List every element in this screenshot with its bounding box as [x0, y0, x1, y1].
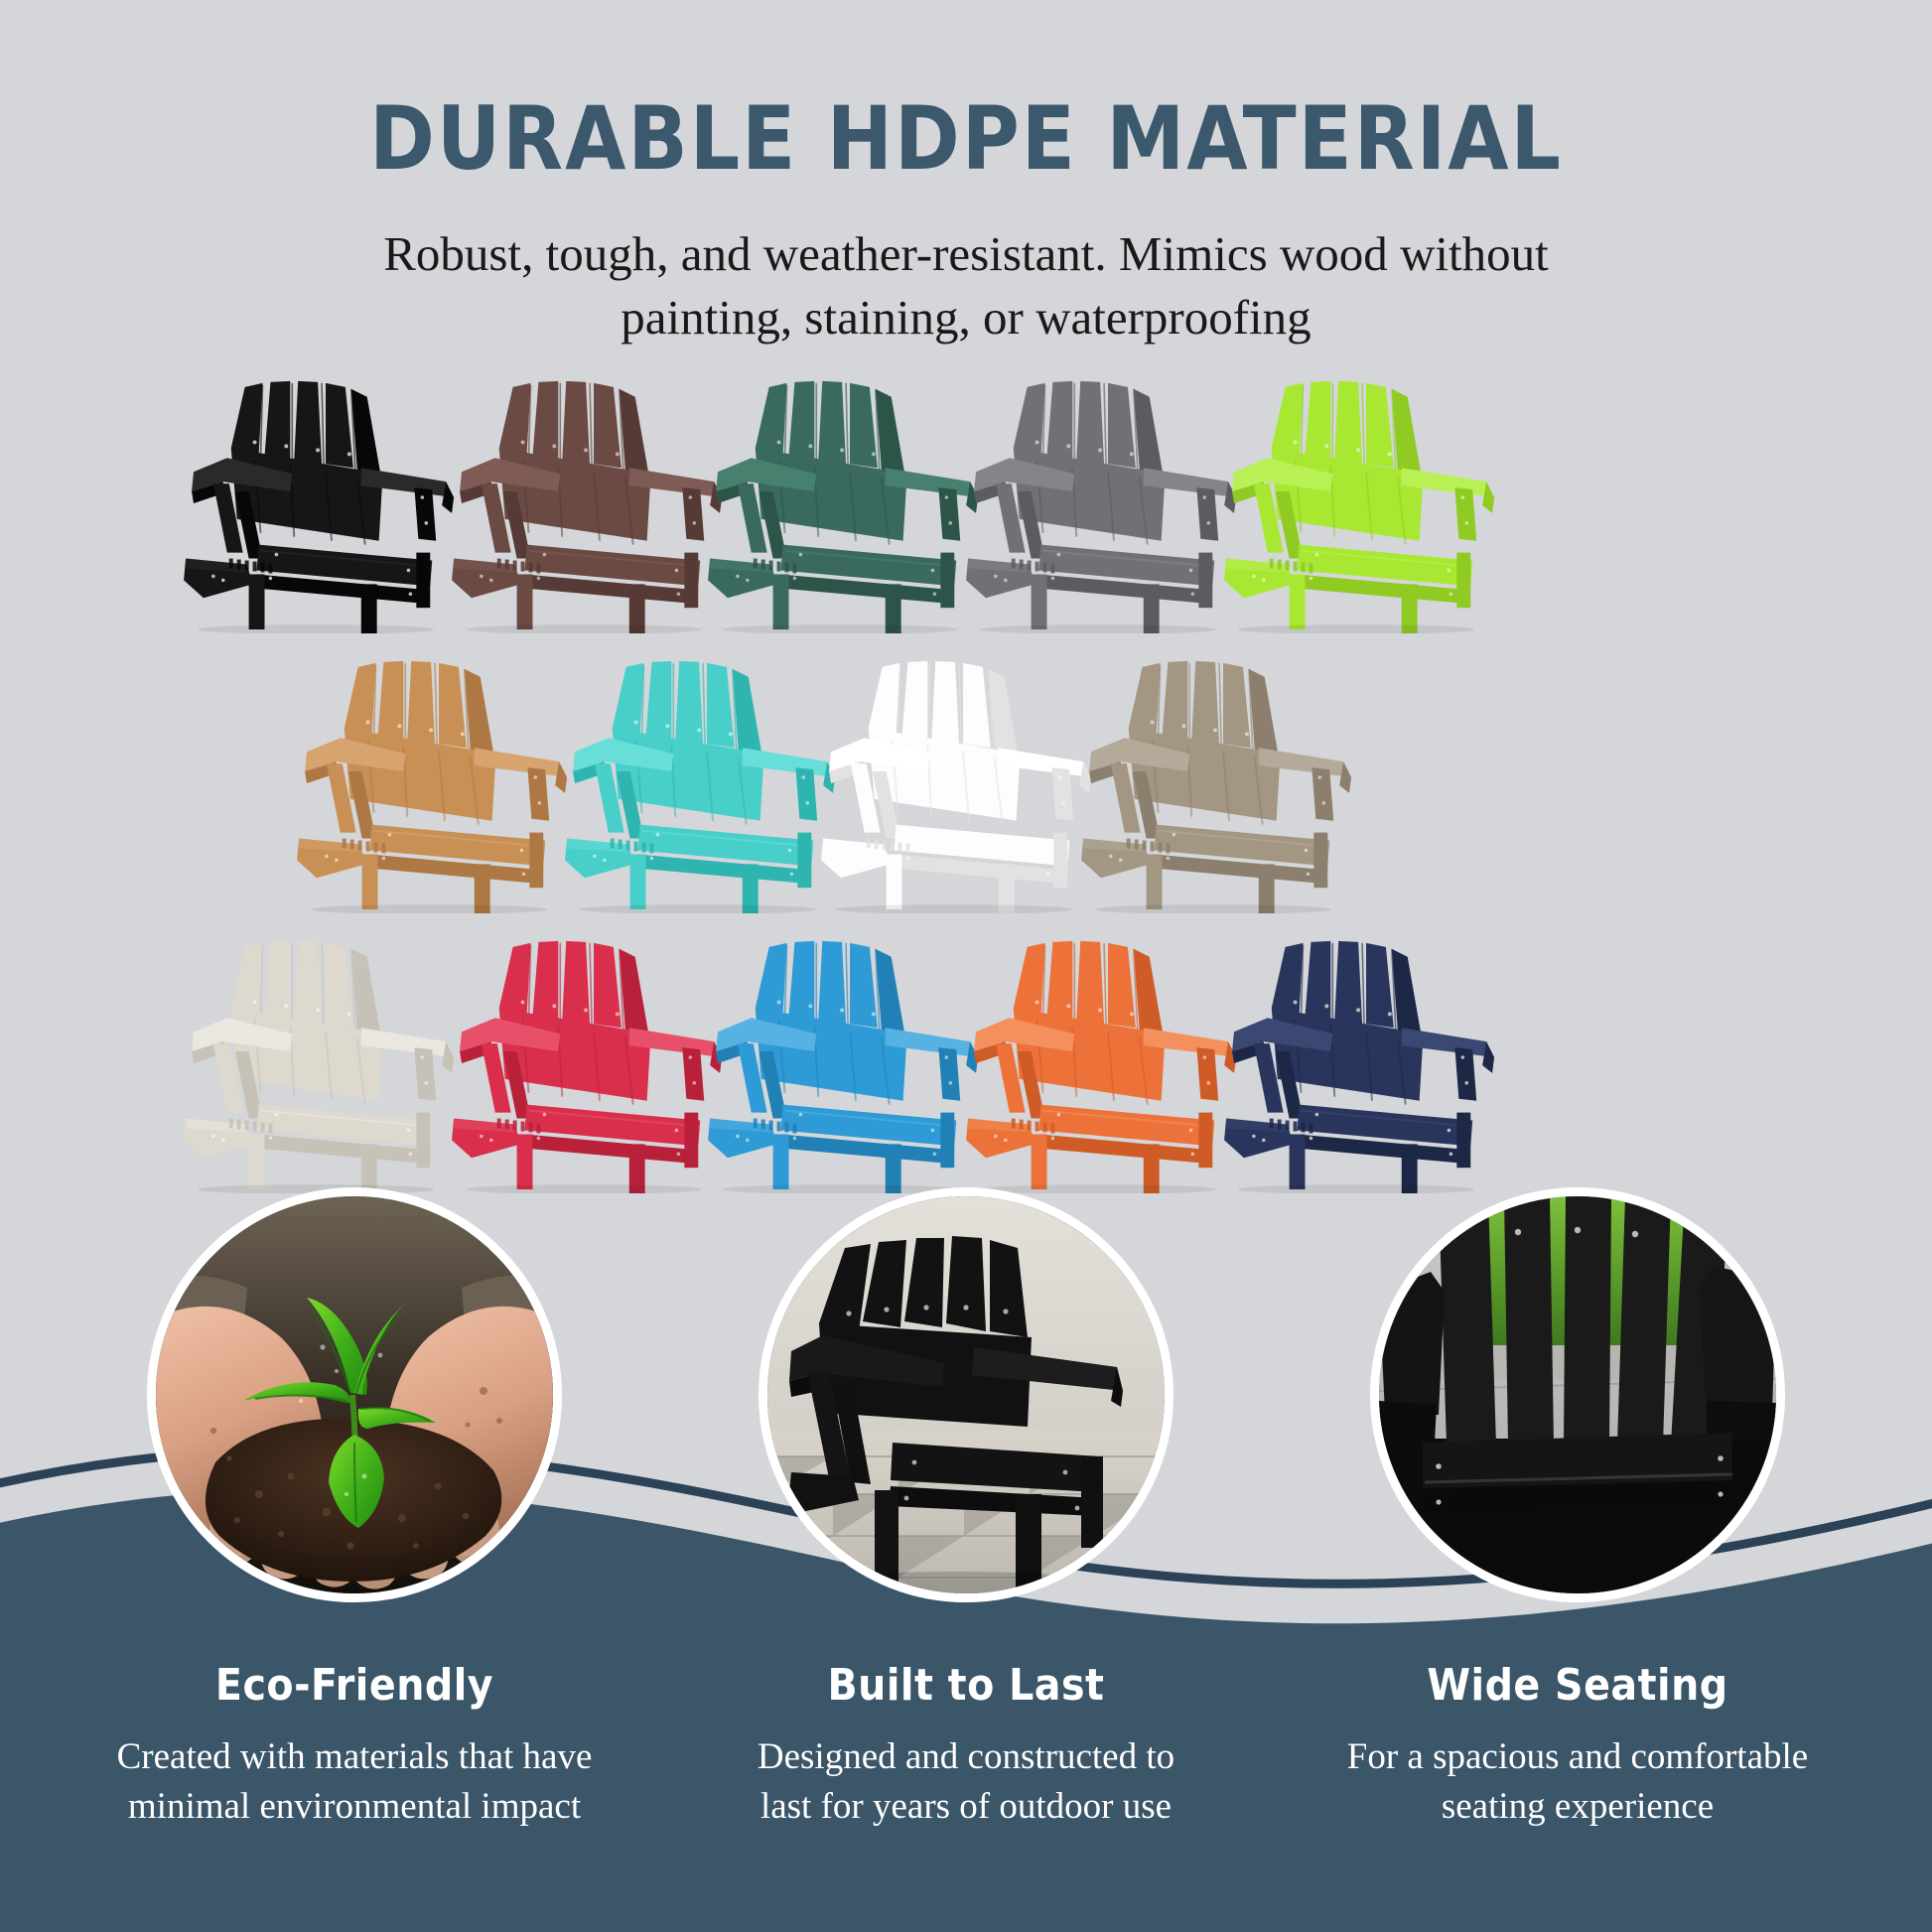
- adirondack-chair-lime-green: [1207, 365, 1535, 633]
- chair-color-row-1: [0, 365, 1932, 633]
- chair-back-closeup-illustration: [1379, 1196, 1776, 1593]
- seedling-illustration: [156, 1196, 553, 1593]
- chair-color-row-2: [0, 645, 1932, 913]
- feature-description: Designed and constructed to last for yea…: [688, 1732, 1244, 1833]
- feature-desc-line-1: For a spacious and comfortable: [1300, 1732, 1856, 1782]
- feature-title: Eco-Friendly: [76, 1660, 632, 1711]
- page-title: DURABLE HDPE MATERIAL: [0, 95, 1932, 183]
- chair-back-closeup-photo: [1370, 1187, 1785, 1602]
- feature-desc-line-2: seating experience: [1300, 1782, 1856, 1832]
- subtitle-line-2: painting, staining, or waterproofing: [271, 286, 1661, 349]
- subtitle-line-1: Robust, tough, and weather-resistant. Mi…: [271, 222, 1661, 286]
- infographic-canvas: DURABLE HDPE MATERIAL Robust, tough, and…: [0, 0, 1932, 1932]
- feature-desc-line-1: Designed and constructed to: [688, 1732, 1244, 1782]
- feature-title: Built to Last: [688, 1660, 1244, 1711]
- adirondack-chair-navy-blue: [1207, 925, 1535, 1193]
- feature-desc-line-2: last for years of outdoor use: [688, 1782, 1244, 1832]
- feature-desc-line-1: Created with materials that have: [76, 1732, 632, 1782]
- patio-chair-illustration: [767, 1196, 1165, 1593]
- chair-swatch-navy-blue[interactable]: [1207, 925, 1535, 1193]
- feature-eco-friendly: Eco-Friendly Created with materials that…: [76, 1660, 632, 1833]
- chair-swatch-lime-green[interactable]: [1207, 365, 1535, 633]
- adirondack-chair-driftwood: [1064, 645, 1392, 913]
- chair-color-row-3: [0, 925, 1932, 1193]
- feature-wide-seating: Wide Seating For a spacious and comforta…: [1300, 1660, 1856, 1833]
- black-chair-on-patio-photo: [759, 1187, 1173, 1602]
- feature-built-to-last: Built to Last Designed and constructed t…: [688, 1660, 1244, 1833]
- feature-description: Created with materials that have minimal…: [76, 1732, 632, 1833]
- feature-title: Wide Seating: [1300, 1660, 1856, 1711]
- feature-desc-line-2: minimal environmental impact: [76, 1782, 632, 1832]
- page-subtitle: Robust, tough, and weather-resistant. Mi…: [271, 222, 1661, 348]
- chair-swatch-driftwood[interactable]: [1064, 645, 1392, 913]
- feature-description: For a spacious and comfortable seating e…: [1300, 1732, 1856, 1833]
- header: DURABLE HDPE MATERIAL Robust, tough, and…: [0, 0, 1932, 348]
- hands-holding-seedling-photo: [147, 1187, 562, 1602]
